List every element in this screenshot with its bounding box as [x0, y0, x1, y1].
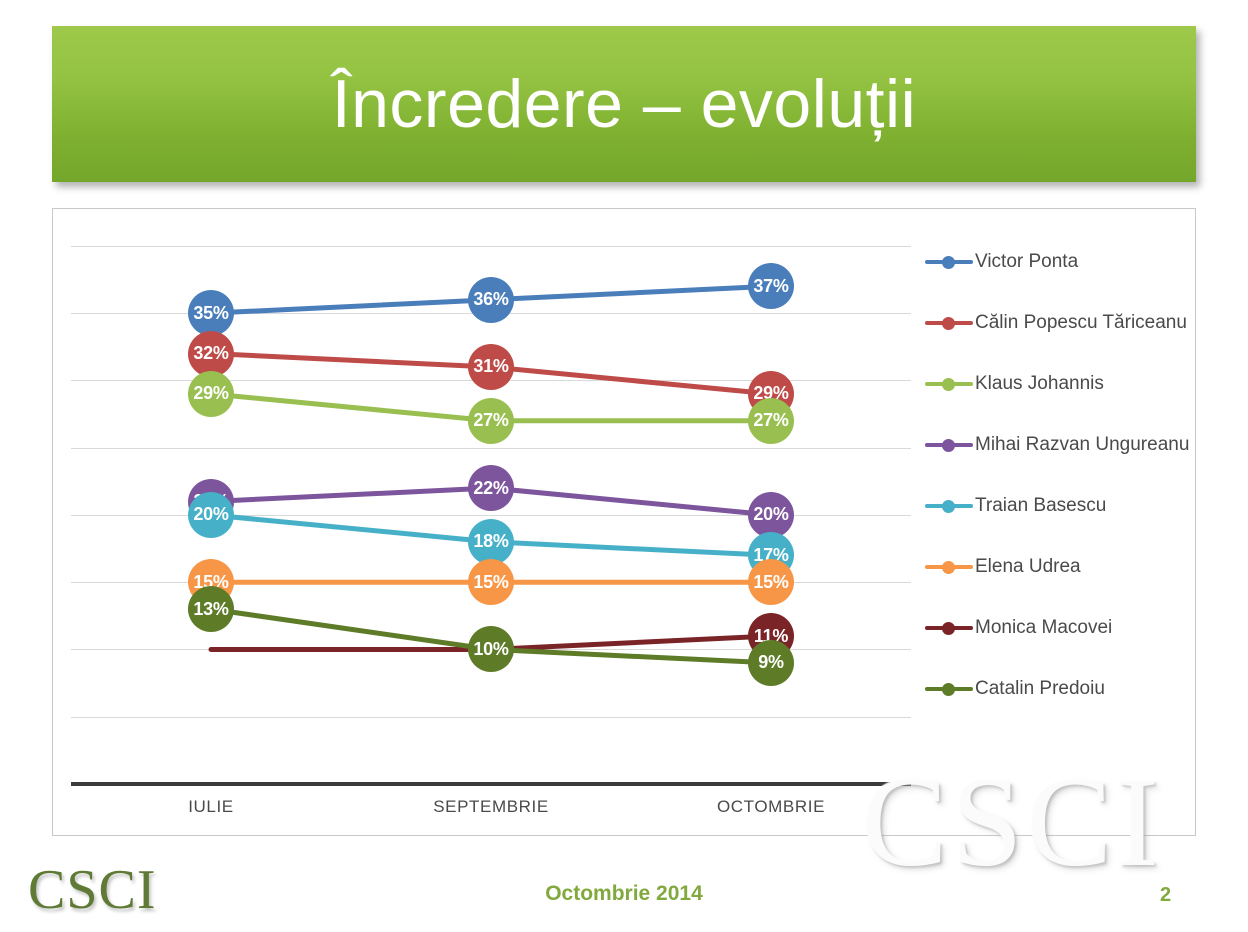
page-title: Încredere – evoluții [332, 70, 917, 138]
legend-swatch-icon [925, 312, 973, 334]
chart-legend: Victor PontaCălin Popescu TăriceanuKlaus… [925, 231, 1185, 719]
data-point-marker[interactable]: 31% [468, 344, 514, 390]
legend-item-2[interactable]: Călin Popescu Tăriceanu [925, 292, 1185, 353]
legend-label: Călin Popescu Tăriceanu [975, 312, 1187, 334]
data-point-marker[interactable]: 22% [468, 465, 514, 511]
legend-label: Victor Ponta [975, 251, 1078, 273]
data-point-marker[interactable]: 27% [468, 398, 514, 444]
data-point-marker[interactable]: 20% [188, 492, 234, 538]
data-point-marker[interactable]: 15% [748, 559, 794, 605]
data-point-marker[interactable]: 35% [188, 290, 234, 336]
legend-swatch-icon [925, 678, 973, 700]
category-label-3: OCTOMBRIE [681, 797, 861, 817]
legend-item-4[interactable]: Mihai Razvan Ungureanu [925, 414, 1185, 475]
page-number: 2 [1160, 884, 1171, 907]
legend-label: Klaus Johannis [975, 373, 1104, 395]
legend-item-8[interactable]: Catalin Predoiu [925, 658, 1185, 719]
legend-swatch-icon [925, 434, 973, 456]
data-point-marker[interactable]: 13% [188, 586, 234, 632]
data-point-marker[interactable]: 36% [468, 277, 514, 323]
data-point-marker[interactable]: 37% [748, 263, 794, 309]
legend-swatch-icon [925, 251, 973, 273]
data-point-marker[interactable]: 29% [188, 371, 234, 417]
legend-label: Elena Udrea [975, 556, 1081, 578]
category-axis-line [71, 782, 911, 786]
plot-area: 35%36%37%32%31%29%29%27%27%21%22%20%20%1… [71, 219, 911, 784]
data-point-marker[interactable]: 27% [748, 398, 794, 444]
data-point-marker[interactable]: 32% [188, 331, 234, 377]
legend-item-1[interactable]: Victor Ponta [925, 231, 1185, 292]
legend-item-5[interactable]: Traian Basescu [925, 475, 1185, 536]
category-label-2: SEPTEMBRIE [401, 797, 581, 817]
legend-label: Catalin Predoiu [975, 678, 1105, 700]
legend-label: Monica Macovei [975, 617, 1112, 639]
data-point-marker[interactable]: 15% [468, 559, 514, 605]
legend-swatch-icon [925, 617, 973, 639]
data-point-marker[interactable]: 20% [748, 492, 794, 538]
chart-container: 35%36%37%32%31%29%29%27%27%21%22%20%20%1… [52, 208, 1196, 836]
legend-swatch-icon [925, 373, 973, 395]
category-label-1: IULIE [121, 797, 301, 817]
legend-label: Traian Basescu [975, 495, 1106, 517]
title-banner: Încredere – evoluții [52, 26, 1196, 182]
legend-swatch-icon [925, 556, 973, 578]
legend-label: Mihai Razvan Ungureanu [975, 434, 1189, 456]
data-point-marker[interactable]: 9% [748, 640, 794, 686]
data-point-marker[interactable]: 18% [468, 519, 514, 565]
legend-item-3[interactable]: Klaus Johannis [925, 353, 1185, 414]
legend-swatch-icon [925, 495, 973, 517]
legend-item-7[interactable]: Monica Macovei [925, 597, 1185, 658]
legend-item-6[interactable]: Elena Udrea [925, 536, 1185, 597]
footer-date: Octombrie 2014 [0, 882, 1248, 906]
